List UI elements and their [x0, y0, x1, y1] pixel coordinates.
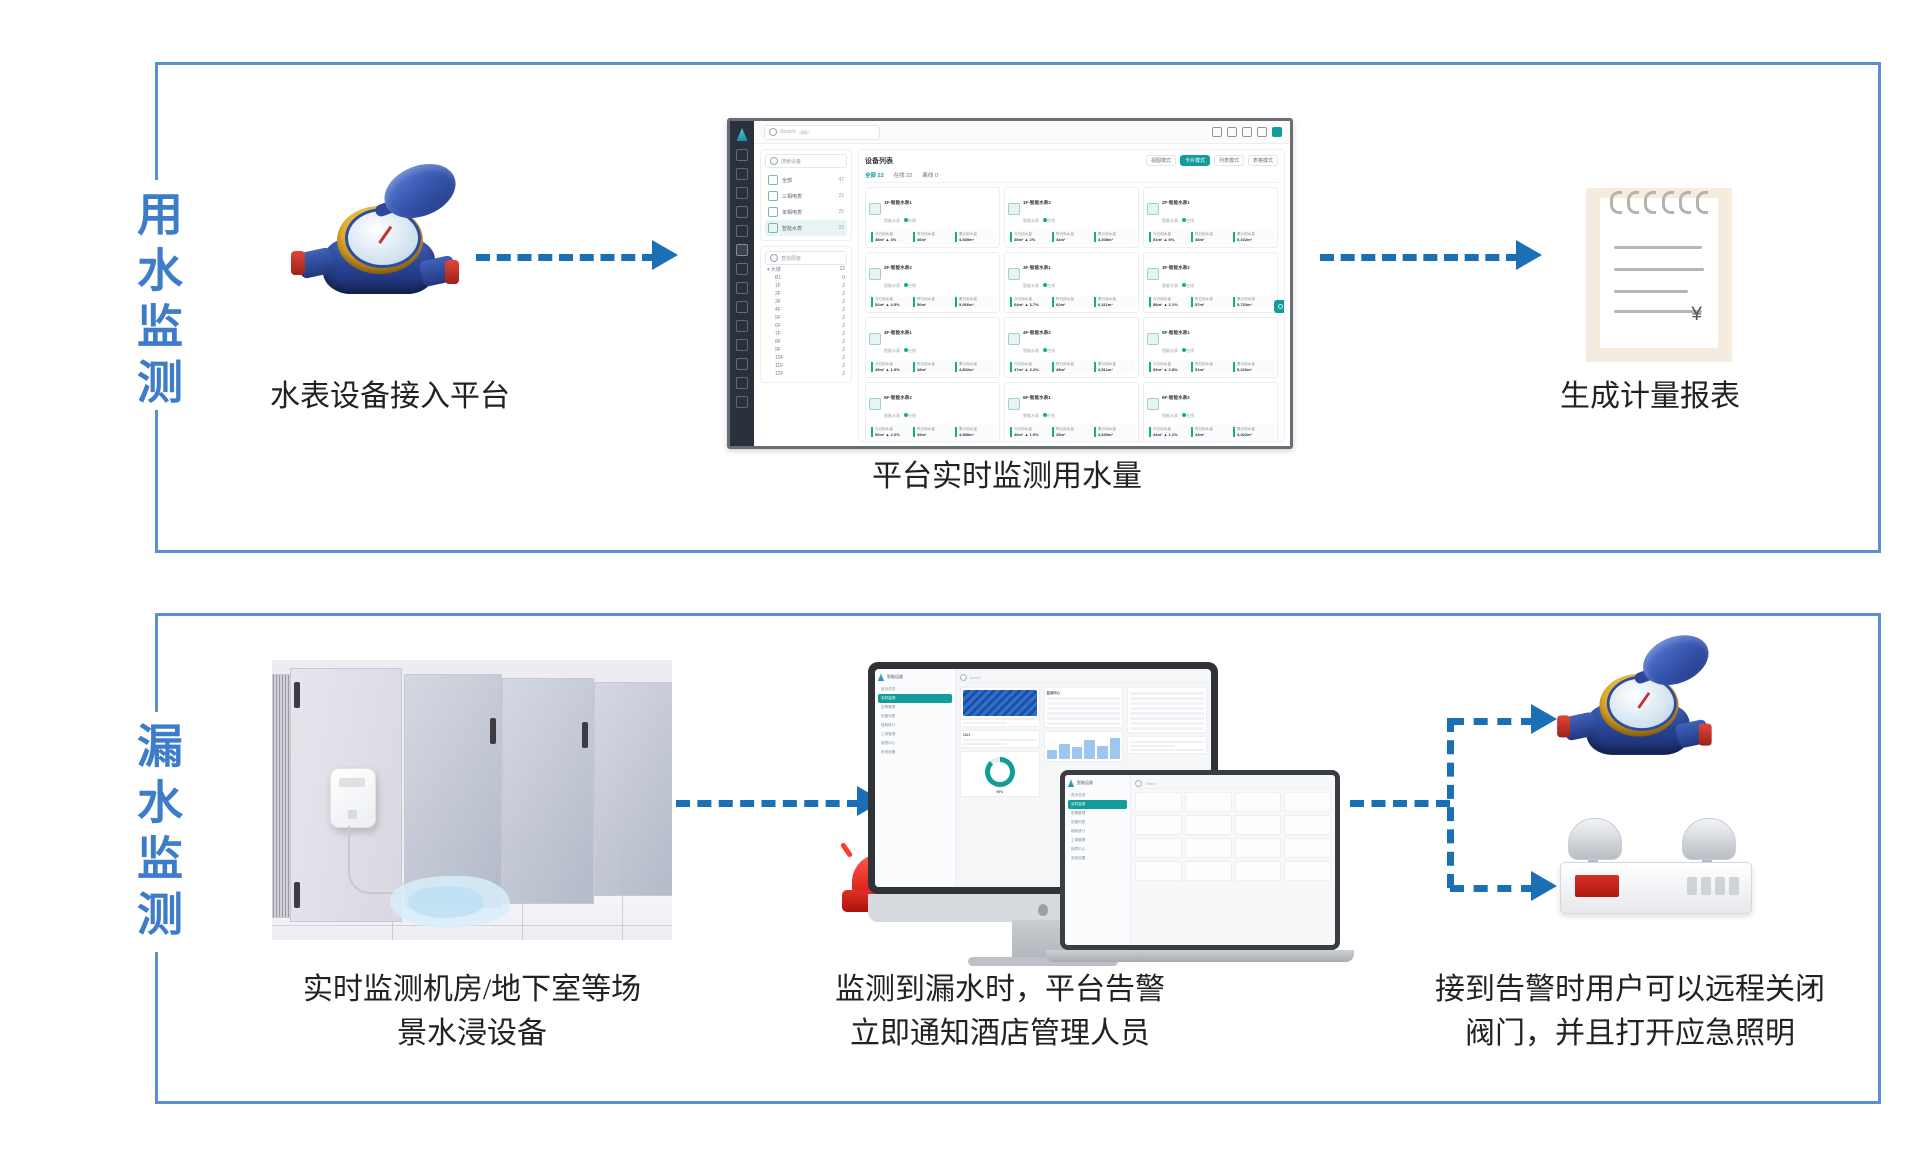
server-cabinet-glass	[594, 682, 672, 896]
metric-yesterday: 昨日用水量45m³	[1052, 362, 1091, 372]
device-card[interactable]: 3F-智能水表1智能水表 在线今日用水量64m³ ▲ 3.7%昨日用水量62m³…	[1004, 252, 1139, 313]
coil-ring	[1610, 191, 1622, 214]
cabinet-handle	[294, 882, 300, 908]
metric-value: 64m³ ▲ 3.7%	[1014, 302, 1049, 307]
device-name: 1F-智能水表2	[1023, 200, 1051, 205]
device-card[interactable]: 1F-智能水表1智能水表 在线今日用水量48m³ ▲ 4%昨日用水量46m³累计…	[865, 187, 1000, 248]
grid-icon[interactable]	[1212, 127, 1222, 137]
alarm-row	[1047, 722, 1121, 725]
console-search-placeholder: Search	[970, 676, 981, 680]
product-tile[interactable]	[1185, 838, 1232, 858]
status-row	[1130, 722, 1204, 725]
product-tile[interactable]	[1185, 815, 1232, 835]
rail-icon-bell[interactable]	[736, 320, 748, 332]
status-tab[interactable]: 在线 22	[894, 171, 913, 179]
metric-value: 44m³ ▲ 1.2%	[1153, 432, 1188, 437]
global-search-input[interactable]: Search ⌘K	[764, 125, 880, 140]
console-nav-item[interactable]: 首页总览	[1068, 791, 1127, 800]
panel-title: 监测中心	[1047, 690, 1121, 695]
group-search-placeholder: 查找层级	[781, 255, 801, 262]
caption-alarm: 监测到漏水时，平台告警 立即通知酒店管理人员	[690, 968, 1310, 1055]
device-card[interactable]: 2F-智能水表2智能水表 在线今日用水量52m³ ▲ 4.5%昨日用水量50m³…	[865, 252, 1000, 313]
search-icon	[1135, 780, 1142, 787]
console-nav-item[interactable]: 能耗统计	[1068, 827, 1127, 836]
device-icon	[869, 398, 881, 410]
location-tree[interactable]: ▾ 大楼22B101F22F23F24F25F26F27F28F29F210F2…	[765, 265, 847, 378]
receipt-icon: ¥	[1586, 188, 1732, 362]
metric-value: 62m³	[1056, 302, 1091, 307]
meter-cap-right	[1699, 724, 1712, 746]
server-room-photo	[272, 660, 672, 940]
product-tile[interactable]	[1185, 792, 1232, 812]
rail-icon-reports[interactable]	[736, 301, 748, 313]
receipt-line	[1614, 268, 1704, 271]
arrowhead-1	[652, 240, 678, 270]
device-status: 在线	[908, 348, 916, 353]
brand-label: 智能运维	[1077, 780, 1093, 786]
status-row	[1130, 692, 1204, 695]
tree-node-count: 2	[842, 299, 845, 305]
coil-ring	[1644, 191, 1656, 214]
metric-value: 51m³ ▲ 6%	[1153, 237, 1188, 242]
tree-node[interactable]: 11F2	[765, 362, 847, 370]
console-nav-item[interactable]: 告警管理	[878, 703, 952, 712]
tree-node-label: 2F	[775, 291, 781, 297]
tree-node[interactable]: 3F2	[765, 298, 847, 306]
tree-node[interactable]: 12F2	[765, 370, 847, 378]
app-logo-icon	[878, 673, 884, 681]
device-search-input[interactable]: 搜索设备	[765, 154, 847, 168]
console-nav-item[interactable]: 工单管理	[878, 730, 952, 739]
metric-value: 43m³	[1195, 432, 1230, 437]
refresh-icon[interactable]	[1242, 127, 1252, 137]
metric-total: 累计用水量5,066m³	[955, 297, 994, 307]
catalog-sidebar[interactable]: 智能运维 首页总览实时监测告警管理设备列表能耗统计工单管理报表中心系统设置	[1065, 775, 1131, 945]
camera-panel	[960, 687, 1040, 727]
metric-value: 57m³	[1195, 302, 1230, 307]
console-nav-item[interactable]: 工单管理	[1068, 836, 1127, 845]
device-card[interactable]: 4F-智能水表2智能水表 在线今日用水量47m³ ▲ 3.2%昨日用水量45m³…	[1004, 317, 1139, 378]
product-tile[interactable]	[1284, 792, 1331, 812]
status-row	[1130, 697, 1204, 700]
metric-today: 今日用水量50m³ ▲ 2.0%	[871, 427, 910, 437]
console-topbar: Search	[960, 673, 1207, 683]
tree-node[interactable]: ▾ 大楼22	[765, 265, 847, 274]
console-nav-item[interactable]: 告警管理	[1068, 809, 1127, 818]
tree-node[interactable]: 4F2	[765, 306, 847, 314]
device-type-count: 22	[838, 225, 844, 231]
tree-node[interactable]: 2F2	[765, 290, 847, 298]
catalog-body: Search	[1131, 775, 1335, 945]
gauge-panel: 95%	[960, 751, 1040, 797]
device-status: 在线	[1186, 413, 1194, 418]
message-icon[interactable]	[1257, 127, 1267, 137]
tree-node[interactable]: 10F2	[765, 354, 847, 362]
device-subtitle: 智能水表	[884, 348, 900, 353]
device-card[interactable]: 4F-智能水表1智能水表 在线今日用水量49m³ ▲ 1.9%昨日用水量48m³…	[865, 317, 1000, 378]
view-mode-chip[interactable]: 视图模式	[1146, 155, 1176, 166]
tree-node-label: 11F	[775, 363, 783, 369]
vent-slot	[1687, 877, 1697, 895]
device-status: 在线	[1047, 218, 1055, 223]
tree-node-count: 2	[842, 339, 845, 345]
device-status: 在线	[908, 413, 916, 418]
product-tile[interactable]	[1235, 815, 1282, 835]
light-head-left	[1568, 818, 1622, 860]
metric-yesterday: 昨日用水量46m³	[913, 232, 952, 242]
device-catalog-ui: 智能运维 首页总览实时监测告警管理设备列表能耗统计工单管理报表中心系统设置 Se…	[1065, 775, 1335, 945]
metric-total: 累计用水量5,733m³	[1233, 297, 1272, 307]
rail-icon-devices[interactable]	[736, 244, 748, 256]
product-tile[interactable]	[1185, 861, 1232, 881]
product-tile[interactable]	[1235, 861, 1282, 881]
text-line	[1130, 745, 1174, 747]
sensor-cable	[348, 826, 404, 894]
tree-node-count: 2	[842, 371, 845, 377]
status-row	[1130, 702, 1204, 705]
tree-node-count: 2	[842, 331, 845, 337]
device-name: 4F-智能水表1	[884, 330, 912, 335]
metric-value: 45m³	[1056, 432, 1091, 437]
emergency-light-body	[1560, 862, 1752, 914]
device-name: 6F-智能水表1	[1023, 395, 1051, 400]
metric-today: 今日用水量51m³ ▲ 6%	[1149, 232, 1188, 242]
search-icon	[770, 157, 778, 165]
metric-today: 今日用水量49m³ ▲ 1.9%	[871, 362, 910, 372]
device-name: 3F-智能水表2	[1162, 265, 1190, 270]
tree-node-count: 0	[842, 275, 845, 281]
tree-node-label: 7F	[775, 331, 781, 337]
metric-yesterday: 昨日用水量62m³	[1052, 297, 1091, 307]
console-nav-item[interactable]: 首页总览	[878, 685, 952, 694]
rail-icon-monitor[interactable]	[736, 225, 748, 237]
gauge-value: 95%	[963, 790, 1037, 794]
device-search-placeholder: 搜索设备	[781, 158, 801, 165]
device-name: 4F-智能水表2	[1023, 330, 1051, 335]
device-status: 在线	[1186, 348, 1194, 353]
stat-value: 1821	[963, 733, 1037, 737]
device-status: 在线	[908, 283, 916, 288]
metric-yesterday: 昨日用水量57m³	[1191, 297, 1230, 307]
product-tile[interactable]	[1135, 792, 1182, 812]
metric-today: 今日用水量47m³ ▲ 3.2%	[1010, 362, 1049, 372]
device-type-count: 47	[838, 177, 844, 183]
view-mode-chip[interactable]: 卡片模式	[1180, 155, 1210, 166]
device-subtitle: 智能水表	[1023, 413, 1039, 418]
metric-value: 49m³ ▲ 1.9%	[875, 367, 910, 372]
metric-yesterday: 昨日用水量45m³	[1052, 427, 1091, 437]
metric-today: 今日用水量53m³ ▲ 2.8%	[1149, 362, 1188, 372]
caption-meter: 水表设备接入平台	[200, 375, 580, 419]
section-label-water-usage: 用水监测	[134, 190, 180, 414]
console-nav-item[interactable]: 实时监测	[878, 694, 952, 703]
search-icon	[769, 128, 777, 136]
console-brand: 智能运维	[878, 673, 952, 681]
console-nav-item[interactable]: 报表中心	[878, 739, 952, 748]
device-list-header: 设备列表 视图模式卡片模式列表模式表格模式	[865, 155, 1278, 166]
device-card[interactable]: 2F-智能水表1智能水表 在线今日用水量51m³ ▲ 6%昨日用水量48m³累计…	[1143, 187, 1278, 248]
rail-icon-sync[interactable]	[736, 339, 748, 351]
metric-yesterday: 昨日用水量48m³	[913, 362, 952, 372]
camera-feed-thumbnail	[963, 690, 1037, 716]
search-shortcut: ⌘K	[799, 130, 810, 135]
metric-value: 4,988m³	[959, 432, 994, 437]
device-icon	[1147, 203, 1159, 215]
device-card-grid[interactable]: 1F-智能水表1智能水表 在线今日用水量48m³ ▲ 4%昨日用水量46m³累计…	[865, 187, 1278, 442]
water-meter-icon	[768, 223, 778, 233]
tree-node-label: 9F	[775, 347, 781, 353]
cabinet-handle	[582, 722, 588, 748]
console-nav-item[interactable]: 设备列表	[878, 712, 952, 721]
device-card[interactable]: 3F-智能水表2智能水表 在线今日用水量58m³ ▲ 2.1%昨日用水量57m³…	[1143, 252, 1278, 313]
device-type-item-selected[interactable]: 智能水表 22	[765, 220, 847, 236]
tree-node-count: 22	[839, 266, 845, 273]
status-row	[1130, 717, 1204, 720]
metric-total: 累计用水量4,402m³	[1233, 427, 1272, 437]
device-type-item[interactable]: 单相电表 25	[765, 204, 847, 220]
alarm-list-panel: 监测中心	[1044, 687, 1124, 728]
tree-node-label: 10F	[775, 355, 784, 361]
product-tile[interactable]	[1135, 861, 1182, 881]
emergency-light-icon	[1560, 818, 1760, 928]
arrowhead-2	[1516, 240, 1542, 270]
tree-node[interactable]: 5F2	[765, 314, 847, 322]
light-head-right	[1682, 818, 1736, 860]
metric-value: 53m³ ▲ 2.8%	[1153, 367, 1188, 372]
tree-node-count: 2	[842, 355, 845, 361]
bar	[1047, 750, 1058, 759]
server-cabinet-glass	[404, 674, 502, 908]
status-tab[interactable]: 全部 22	[865, 171, 884, 179]
location-tree-panel: 查找层级 ▾ 大楼22B101F22F23F24F25F26F27F28F29F…	[760, 246, 852, 383]
metric-value: 5,102m³	[1237, 237, 1272, 242]
metric-value: 47m³ ▲ 3.2%	[1014, 367, 1049, 372]
cabinet-handle	[294, 682, 300, 708]
rail-icon-alerts[interactable]	[736, 282, 748, 294]
rail-icon-help[interactable]	[736, 396, 748, 408]
metric-today: 今日用水量46m³ ▲ 1.5%	[1010, 427, 1049, 437]
trend-bars	[1047, 737, 1121, 759]
view-mode-chips[interactable]: 视图模式卡片模式列表模式表格模式	[1146, 155, 1278, 166]
metric-yesterday: 昨日用水量43m³	[1191, 427, 1230, 437]
alarm-row	[1047, 697, 1121, 700]
metric-today: 今日用水量44m³ ▲ 1.2%	[1149, 427, 1188, 437]
status-tab[interactable]: 离线 0	[922, 171, 938, 179]
meter-cap-left	[1557, 715, 1570, 737]
bar	[1084, 740, 1095, 759]
tree-node-count: 2	[842, 291, 845, 297]
device-list-panel: 设备列表 视图模式卡片模式列表模式表格模式 全部 22在线 22离线 0 1F-…	[858, 149, 1285, 442]
group-search-input[interactable]: 查找层级	[765, 251, 847, 265]
vent-slots	[1687, 877, 1739, 895]
device-type-panel: 搜索设备 全部 47 三相电表 22 单相电表 25	[760, 149, 852, 241]
caption-remote-action: 接到告警时用户可以远程关闭 阀门，并且打开应急照明	[1370, 968, 1890, 1055]
product-tile[interactable]	[1284, 861, 1331, 881]
device-card[interactable]: 5F-智能水表2智能水表 在线今日用水量50m³ ▲ 2.0%昨日用水量49m³…	[865, 382, 1000, 442]
receipt-sheet: ¥	[1600, 198, 1718, 348]
tree-node[interactable]: B10	[765, 274, 847, 282]
tree-node[interactable]: 6F2	[765, 322, 847, 330]
product-tile[interactable]	[1135, 815, 1182, 835]
device-name: 3F-智能水表1	[1023, 265, 1051, 270]
rail-icon-home[interactable]	[736, 149, 748, 161]
tree-node-label: 8F	[775, 339, 781, 345]
rail-icon-settings[interactable]	[736, 263, 748, 275]
device-status-panel	[1127, 687, 1207, 733]
device-icon	[869, 333, 881, 345]
view-mode-chip[interactable]: 表格模式	[1248, 155, 1278, 166]
metric-value: 48m³	[1195, 237, 1230, 242]
metric-value: 4,802m³	[959, 367, 994, 372]
alarm-row	[1047, 712, 1121, 715]
avatar[interactable]	[1272, 127, 1282, 137]
app-logo-icon	[1068, 779, 1074, 787]
device-name: 5F-智能水表1	[1162, 330, 1190, 335]
device-subtitle: 智能水表	[1162, 413, 1178, 418]
meter-icon	[768, 191, 778, 201]
device-type-count: 22	[838, 193, 844, 199]
metric-today: 今日用水量48m³ ▲ 4%	[871, 232, 910, 242]
coil-ring	[1679, 191, 1691, 214]
view-mode-chip[interactable]: 列表模式	[1214, 155, 1244, 166]
device-type-item[interactable]: 全部 47	[765, 172, 847, 188]
text-line	[963, 718, 1037, 720]
metric-value: 4,630m³	[1098, 432, 1133, 437]
receipt-coil	[1610, 191, 1708, 209]
tree-node[interactable]: 1F2	[765, 282, 847, 290]
device-status-tabs[interactable]: 全部 22在线 22离线 0	[865, 171, 1278, 183]
coil-ring	[1696, 191, 1708, 214]
metric-value: 45m³	[1056, 367, 1091, 372]
logo-icon	[1038, 904, 1048, 916]
catalog-topbar: Search	[1135, 779, 1331, 789]
product-tile[interactable]	[1135, 838, 1182, 858]
device-subtitle: 智能水表	[884, 283, 900, 288]
device-subtitle: 智能水表	[1162, 348, 1178, 353]
tree-node-count: 2	[842, 347, 845, 353]
device-status: 在线	[1047, 283, 1055, 288]
product-tiles[interactable]	[1135, 792, 1331, 881]
search-icon	[770, 254, 778, 262]
device-subtitle: 智能水表	[884, 218, 900, 223]
metric-total: 累计用水量4,630m³	[1094, 427, 1133, 437]
rail-icon-docs[interactable]	[736, 358, 748, 370]
arrowhead-emergency-light	[1531, 871, 1557, 901]
completion-gauge	[985, 757, 1015, 787]
device-type-label: 智能水表	[782, 225, 802, 232]
metric-value: 5,733m³	[1237, 302, 1272, 307]
text-line	[963, 743, 1007, 745]
console-nav-item[interactable]: 实时监测	[1068, 800, 1127, 809]
metric-total: 累计用水量4,511m³	[1094, 362, 1133, 372]
device-icon	[869, 268, 881, 280]
device-card[interactable]: 6F-智能水表2智能水表 在线今日用水量44m³ ▲ 1.2%昨日用水量43m³…	[1143, 382, 1278, 442]
rail-icon-dashboard[interactable]	[736, 168, 748, 180]
status-row	[1130, 707, 1204, 710]
console-nav-item[interactable]: 系统设置	[878, 748, 952, 757]
metric-today: 今日用水量64m³ ▲ 3.7%	[1010, 297, 1049, 307]
metric-value: 4,402m³	[1237, 432, 1272, 437]
meter-cap-right	[445, 260, 459, 284]
arrow-branch-up	[1450, 718, 1535, 725]
product-tile[interactable]	[1235, 792, 1282, 812]
device-card[interactable]: 1F-智能水表2智能水表 在线今日用水量45m³ ▲ 2%昨日用水量44m³累计…	[1004, 187, 1139, 248]
tree-node-label: ▾ 大楼	[767, 266, 781, 273]
tree-node[interactable]: 7F2	[765, 330, 847, 338]
product-tile[interactable]	[1284, 838, 1331, 858]
catalog-brand: 智能运维	[1068, 779, 1127, 787]
text-line	[963, 739, 1037, 741]
dashboard-topbar: Search ⌘K	[754, 121, 1290, 144]
tree-node-label: 4F	[775, 307, 781, 313]
device-name: 2F-智能水表2	[884, 265, 912, 270]
vent-slot	[1715, 877, 1725, 895]
metric-total: 累计用水量4,549m³	[955, 232, 994, 242]
rail-icon-sensor[interactable]	[736, 206, 748, 218]
metric-today: 今日用水量58m³ ▲ 2.1%	[1149, 297, 1188, 307]
metric-value: 5,220m³	[1237, 367, 1272, 372]
console-nav[interactable]: 首页总览实时监测告警管理设备列表能耗统计工单管理报表中心系统设置	[878, 685, 952, 757]
valve-water-meter-icon	[1570, 650, 1726, 760]
metric-total: 累计用水量5,220m³	[1233, 362, 1272, 372]
tree-node-label: B1	[775, 275, 781, 281]
caption-platform: 平台实时监测用水量	[807, 455, 1207, 499]
device-status: 在线	[1186, 218, 1194, 223]
device-card[interactable]: 5F-智能水表1智能水表 在线今日用水量53m³ ▲ 2.8%昨日用水量51m³…	[1143, 317, 1278, 378]
metric-value: 46m³ ▲ 1.5%	[1014, 432, 1049, 437]
device-subtitle: 智能水表	[1023, 283, 1039, 288]
rail-icon-tools[interactable]	[736, 377, 748, 389]
tree-node[interactable]: 8F2	[765, 338, 847, 346]
help-fab-button[interactable]	[1274, 300, 1285, 313]
metric-yesterday: 昨日用水量48m³	[1191, 232, 1230, 242]
console-nav-item[interactable]: 系统设置	[1068, 854, 1127, 863]
metric-value: 5,066m³	[959, 302, 994, 307]
rail-icon-building[interactable]	[736, 187, 748, 199]
meter-cap-left	[291, 251, 305, 275]
dashboard-left-column: 搜索设备 全部 47 三相电表 22 单相电表 25	[760, 149, 852, 442]
console-nav-item[interactable]: 设备列表	[1068, 818, 1127, 827]
text-line	[1130, 741, 1204, 743]
arrow-console-branch-trunk	[1350, 800, 1450, 807]
device-icon	[1147, 333, 1159, 345]
device-icon	[1008, 268, 1020, 280]
product-tile[interactable]	[1235, 838, 1282, 858]
console-nav-item[interactable]: 能耗统计	[878, 721, 952, 730]
tree-node[interactable]: 9F2	[765, 346, 847, 354]
device-subtitle: 智能水表	[1162, 218, 1178, 223]
device-card[interactable]: 6F-智能水表1智能水表 在线今日用水量46m³ ▲ 1.5%昨日用水量45m³…	[1004, 382, 1139, 442]
alarm-row	[1047, 707, 1121, 710]
device-icon	[1008, 398, 1020, 410]
device-icon	[1147, 268, 1159, 280]
console-nav-item[interactable]: 报表中心	[1068, 845, 1127, 854]
arrow-room-to-console	[676, 800, 861, 807]
product-tile[interactable]	[1284, 815, 1331, 835]
screen-icon[interactable]	[1227, 127, 1237, 137]
catalog-nav[interactable]: 首页总览实时监测告警管理设备列表能耗统计工单管理报表中心系统设置	[1068, 791, 1127, 863]
device-subtitle: 智能水表	[1023, 348, 1039, 353]
metric-total: 累计用水量4,988m³	[955, 427, 994, 437]
device-icon	[869, 203, 881, 215]
text-line	[1130, 749, 1204, 751]
text-line	[963, 722, 1007, 724]
console-sidebar[interactable]: 智能运维 首页总览实时监测告警管理设备列表能耗统计工单管理报表中心系统设置	[875, 669, 956, 887]
device-type-item[interactable]: 三相电表 22	[765, 188, 847, 204]
metric-value: 4,549m³	[959, 237, 994, 242]
dashboard-nav-rail[interactable]	[730, 121, 754, 446]
all-icon	[768, 175, 778, 185]
